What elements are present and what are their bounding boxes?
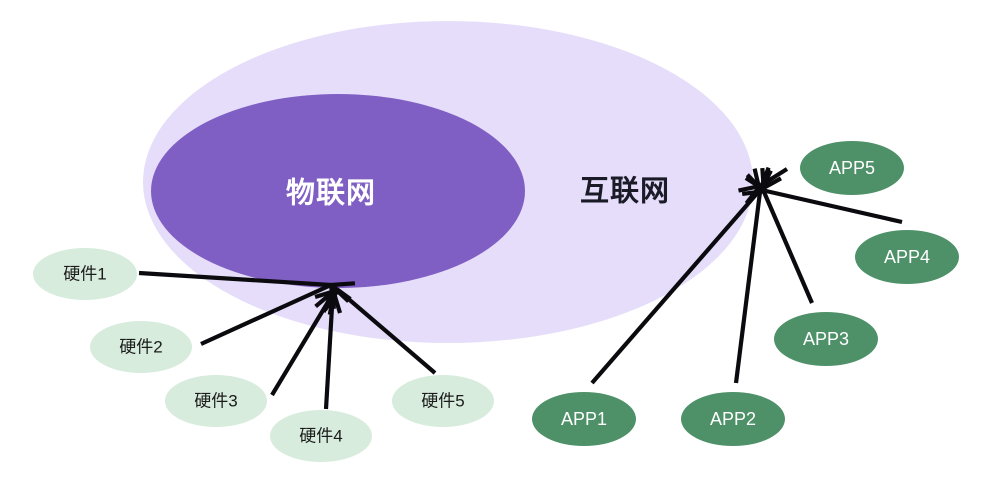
hardware-node-label-5: 硬件5: [421, 391, 464, 410]
arrowhead-1-barb-1: [331, 283, 355, 285]
hardware-node-label-4: 硬件4: [299, 426, 342, 445]
app-node-label-1: APP1: [561, 409, 607, 429]
hardware-node-label-1: 硬件1: [63, 264, 106, 283]
app-node-label-5: APP5: [829, 158, 875, 178]
hardware-node-label-2: 硬件2: [119, 337, 162, 356]
outer-zone-label: 互联网: [580, 175, 670, 208]
diagram-root: 物联网 互联网 硬件1硬件2硬件3硬件4硬件5 APP1APP2APP3APP4…: [0, 0, 991, 500]
app-node-label-3: APP3: [803, 329, 849, 349]
app-connector-4: [766, 191, 902, 222]
inner-zone-label: 物联网: [286, 177, 376, 210]
app-node-label-2: APP2: [710, 409, 756, 429]
app-node-label-4: APP4: [884, 247, 930, 267]
app-connector-3: [764, 192, 812, 303]
hardware-node-label-3: 硬件3: [194, 391, 237, 410]
diagram-canvas: 物联网 互联网 硬件1硬件2硬件3硬件4硬件5 APP1APP2APP3APP4…: [0, 0, 991, 500]
